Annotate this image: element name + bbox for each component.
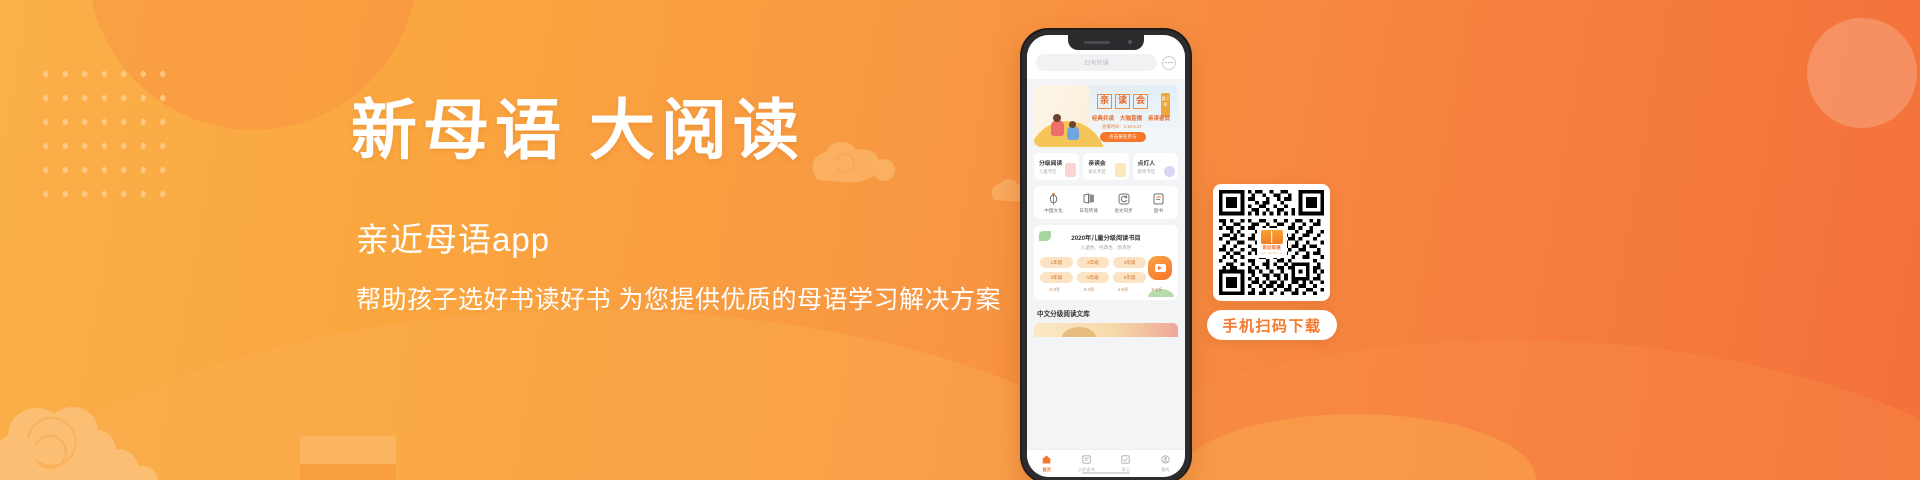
book-icon (1152, 192, 1165, 205)
category-card-parent-club[interactable]: 亲读会 家长专区 (1083, 153, 1128, 180)
quick-icon-label: 日有所诵 (1079, 208, 1097, 214)
logo-pinyin: QIN JIN MU YU (1261, 252, 1282, 255)
grade-tag[interactable]: 3年级 (1113, 257, 1146, 268)
video-play-icon[interactable] (1148, 256, 1172, 280)
more-dots-icon[interactable] (1162, 56, 1176, 70)
home-indicator (1082, 472, 1130, 475)
quick-icon-textbook-sync[interactable]: 语文同步 (1106, 192, 1141, 214)
tab-label: 我的 (1161, 467, 1169, 473)
phone-speaker (1084, 41, 1110, 44)
dot-grid-pattern (36, 62, 172, 210)
open-book-icon (1082, 192, 1095, 205)
qr-center-logo: 亲近母语 QIN JIN MU YU (1257, 228, 1287, 258)
promo-title: 亲 读 会 (1097, 94, 1148, 109)
age-tag[interactable]: 5-6岁 (1142, 287, 1172, 293)
promo-child-illustration-1 (1051, 120, 1064, 136)
tab-study[interactable]: 学习 (1106, 455, 1146, 473)
grade-tag[interactable]: 2年级 (1077, 257, 1110, 268)
decorative-ellipse-under-phone (1176, 414, 1536, 480)
tab-label: 首页 (1043, 467, 1051, 473)
age-row: 0-3岁 3-4岁 4-5岁 5-6岁 (1040, 287, 1172, 293)
grade-tag[interactable]: 1年级 (1040, 257, 1073, 268)
quick-icon-label: 中国文化 (1044, 208, 1062, 214)
app-search-row: 日有所诵 (1036, 54, 1176, 71)
tab-home[interactable]: 首页 (1027, 455, 1067, 473)
library-cover-strip[interactable] (1034, 323, 1178, 337)
app-booklist-section: 2020年儿童分级阅读书目 儿童性、经典性、教育性 1年级 2年级 3年级 4年… (1034, 225, 1178, 300)
phone-mockup: 日有所诵 亲 读 会 第二季 经典共读 大咖直播 亲读者说 (1022, 30, 1190, 480)
download-button-label: 手机扫码下载 (1222, 315, 1321, 336)
decorative-cube (300, 436, 396, 480)
quick-icon-label: 语文同步 (1114, 208, 1132, 214)
quick-icon-daily-recite[interactable]: 日有所诵 (1071, 192, 1106, 214)
circle-shape-icon (1164, 166, 1175, 177)
cloud-motif-title-right (810, 140, 902, 186)
marketing-tagline: 帮助孩子选好书读好书 为您提供优质的母语学习解决方案 (356, 283, 1001, 317)
home-icon (1042, 455, 1052, 465)
qr-code-card: 亲近母语 QIN JIN MU YU (1213, 184, 1330, 301)
promo-feature-1: 经典共读 (1092, 114, 1114, 122)
headline-part-2: 大阅读 (589, 91, 805, 169)
headline-part-1: 新母语 (351, 91, 567, 169)
age-tag[interactable]: 0-3岁 (1040, 287, 1070, 293)
download-button[interactable]: 手机扫码下载 (1207, 310, 1337, 340)
booklist-title: 2020年儿童分级阅读书目 (1040, 233, 1172, 242)
grade-tag[interactable]: 5年级 (1077, 272, 1110, 283)
app-quick-icons: 中国文化 日有所诵 语文同步 图书 (1034, 186, 1178, 219)
book-logo-icon (1261, 230, 1283, 244)
grade-tag[interactable]: 4年级 (1040, 272, 1073, 283)
lantern-icon (1047, 192, 1060, 205)
booklist-subtitle: 儿童性、经典性、教育性 (1040, 245, 1172, 251)
quick-icon-books[interactable]: 图书 (1141, 192, 1176, 214)
promo-feature-3: 亲读者说 (1148, 114, 1170, 122)
tab-reading[interactable]: 小步读书 (1067, 455, 1107, 473)
cloud-motif-bottom-left (0, 382, 167, 480)
quick-icon-chinese-culture[interactable]: 中国文化 (1036, 192, 1071, 214)
app-name-subtitle: 亲近母语app (356, 219, 550, 261)
promo-cta-button[interactable]: 点击报名参与 (1100, 132, 1146, 142)
qr-code-image: 亲近母语 QIN JIN MU YU (1219, 190, 1324, 295)
app-promo-banner[interactable]: 亲 读 会 第二季 经典共读 大咖直播 亲读者说 直播时间：4.16-5.27 … (1034, 85, 1178, 147)
list-icon (1081, 455, 1091, 465)
promo-date: 直播时间：4.16-5.27 (1102, 124, 1142, 130)
promo-title-char-2: 读 (1115, 94, 1130, 109)
promo-title-char-3: 会 (1133, 94, 1148, 109)
promo-features: 经典共读 大咖直播 亲读者说 (1092, 114, 1170, 122)
note-shape-icon (1115, 163, 1126, 177)
promo-child-illustration-2 (1067, 126, 1079, 140)
quick-icon-label: 图书 (1154, 208, 1163, 214)
phone-screen: 日有所诵 亲 读 会 第二季 经典共读 大咖直播 亲读者说 (1027, 35, 1185, 477)
bookmark-shape-icon (1065, 163, 1076, 177)
phone-camera (1128, 40, 1132, 44)
phone-notch (1068, 35, 1144, 50)
app-category-cards: 分级阅读 儿童专区 亲读会 家长专区 点灯人 教师专区 (1034, 153, 1178, 180)
grade-tag[interactable]: 6年级 (1113, 272, 1146, 283)
tab-profile[interactable]: 我的 (1146, 455, 1186, 473)
check-icon (1121, 455, 1131, 465)
leaf-decoration-top (1039, 231, 1051, 241)
category-card-teacher[interactable]: 点灯人 教师专区 (1133, 153, 1178, 180)
refresh-icon (1117, 192, 1130, 205)
age-tag[interactable]: 4-5岁 (1108, 287, 1138, 293)
page-title: 新母语大阅读 (351, 93, 805, 167)
profile-icon (1160, 455, 1170, 465)
promo-feature-2: 大咖直播 (1120, 114, 1142, 122)
grade-selector-area: 1年级 2年级 3年级 4年级 5年级 6年级 0-3岁 3-4岁 4-5岁 5… (1040, 257, 1172, 293)
decorative-circle-top-right (1807, 18, 1917, 128)
library-section-title: 中文分级阅读文库 (1037, 308, 1185, 318)
category-card-graded-reading[interactable]: 分级阅读 儿童专区 (1034, 153, 1079, 180)
search-input[interactable]: 日有所诵 (1036, 54, 1157, 71)
logo-name: 亲近母语 (1262, 245, 1280, 251)
promo-title-char-1: 亲 (1097, 94, 1112, 109)
age-tag[interactable]: 3-4岁 (1074, 287, 1104, 293)
search-placeholder: 日有所诵 (1084, 58, 1108, 67)
